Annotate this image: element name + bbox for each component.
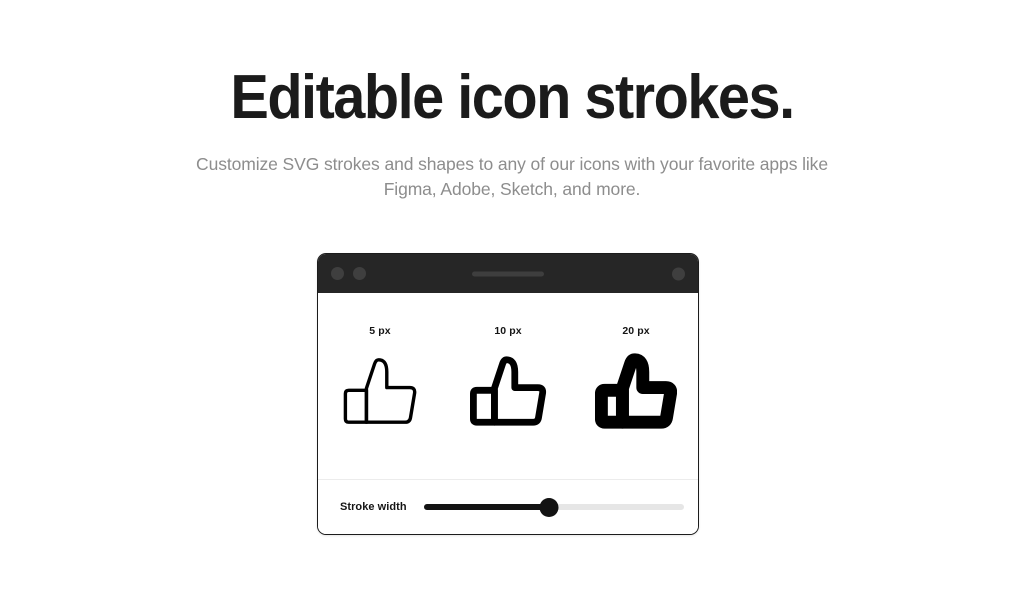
page-subtitle: Customize SVG strokes and shapes to any … <box>182 152 842 202</box>
thumbs-up-icon[interactable] <box>467 353 549 429</box>
icon-sample-row: 5 px 10 px <box>318 293 698 429</box>
hero-section: Editable icon strokes. Customize SVG str… <box>0 0 1024 202</box>
address-bar-pill[interactable] <box>472 271 544 276</box>
thumbs-up-icon[interactable] <box>595 353 677 429</box>
page-root: Editable icon strokes. Customize SVG str… <box>0 0 1024 613</box>
icon-sample-label: 20 px <box>622 325 649 337</box>
slider-track-fill <box>424 504 549 510</box>
window-titlebar-right <box>672 267 685 280</box>
icon-preview-canvas: 5 px 10 px <box>318 293 698 479</box>
window-dot-3-icon[interactable] <box>672 267 685 280</box>
icon-sample-20px: 20 px <box>588 325 684 429</box>
stroke-width-control: Stroke width <box>318 480 698 534</box>
window-dot-2-icon[interactable] <box>353 267 366 280</box>
stroke-width-label: Stroke width <box>340 501 407 513</box>
window-titlebar <box>318 254 698 293</box>
icon-sample-label: 10 px <box>494 325 521 337</box>
slider-thumb[interactable] <box>539 498 558 517</box>
browser-window-mock: 5 px 10 px <box>317 253 699 535</box>
stroke-width-slider[interactable] <box>424 498 684 516</box>
window-dot-1-icon[interactable] <box>331 267 344 280</box>
icon-sample-10px: 10 px <box>460 325 556 429</box>
icon-sample-label: 5 px <box>369 325 390 337</box>
thumbs-up-icon[interactable] <box>339 353 421 429</box>
page-title: Editable icon strokes. <box>36 62 988 134</box>
icon-sample-5px: 5 px <box>332 325 428 429</box>
